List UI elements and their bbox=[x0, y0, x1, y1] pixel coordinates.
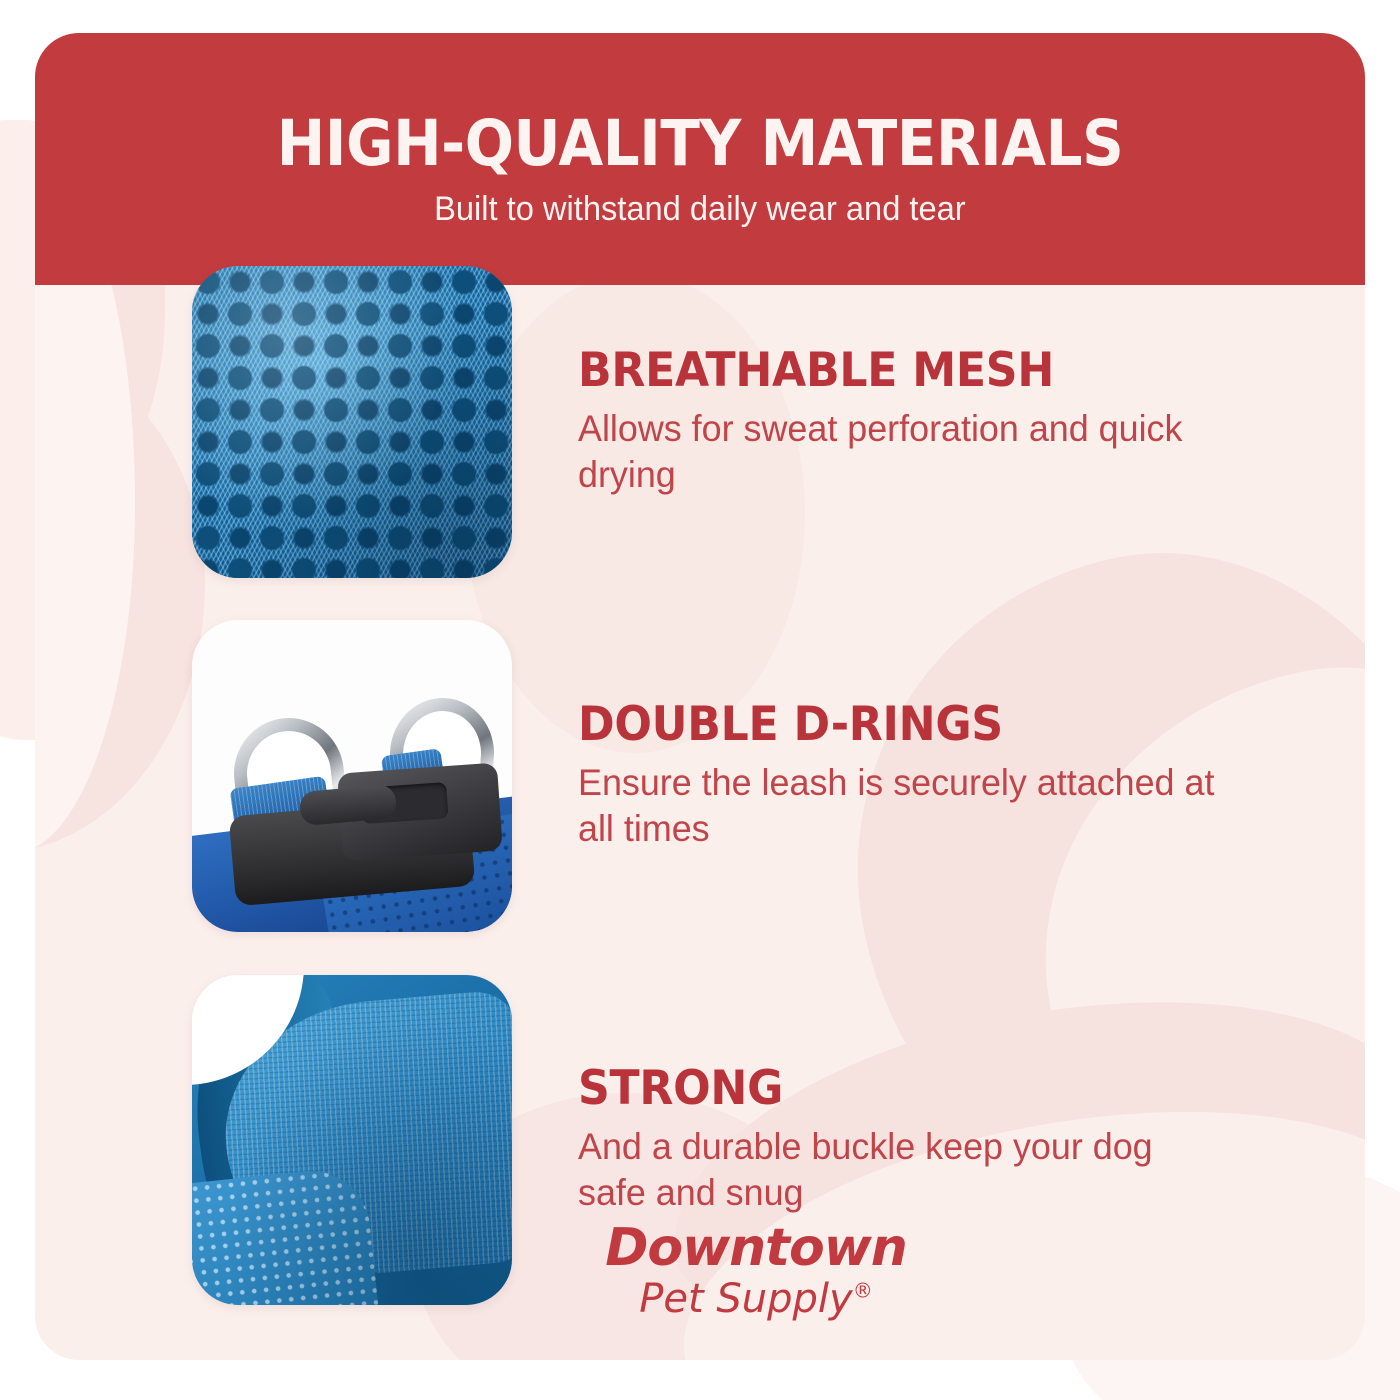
feature-row-double-d-rings: DOUBLE D-RINGS Ensure the leash is secur… bbox=[192, 620, 1238, 932]
page-subtitle: Built to withstand daily wear and tear bbox=[434, 191, 966, 228]
feature-image-breathable-mesh bbox=[192, 266, 512, 578]
brand-name-secondary: Pet Supply® bbox=[546, 1278, 966, 1320]
feature-image-double-d-rings bbox=[192, 620, 512, 932]
feature-title: STRONG bbox=[578, 1064, 1198, 1113]
header-banner: HIGH-QUALITY MATERIALS Built to withstan… bbox=[35, 33, 1365, 285]
mesh-sheen-overlay bbox=[192, 266, 512, 578]
feature-text-breathable-mesh: BREATHABLE MESH Allows for sweat perfora… bbox=[578, 346, 1238, 497]
padded-fabric-photo bbox=[192, 975, 512, 1305]
infographic-canvas: HIGH-QUALITY MATERIALS Built to withstan… bbox=[0, 0, 1400, 1400]
feature-row-breathable-mesh: BREATHABLE MESH Allows for sweat perfora… bbox=[192, 266, 1238, 578]
feature-description: And a durable buckle keep your dog safe … bbox=[578, 1124, 1218, 1216]
brand-name-primary: Downtown bbox=[546, 1222, 966, 1274]
feature-description: Ensure the leash is securely attached at… bbox=[578, 760, 1218, 852]
d-rings-photo bbox=[192, 620, 512, 932]
feature-description: Allows for sweat perforation and quick d… bbox=[578, 406, 1218, 498]
feature-text-double-d-rings: DOUBLE D-RINGS Ensure the leash is secur… bbox=[578, 700, 1238, 851]
feature-title: DOUBLE D-RINGS bbox=[578, 700, 1198, 749]
brand-logo: Downtown Pet Supply® bbox=[546, 1222, 966, 1320]
feature-image-strong bbox=[192, 975, 512, 1305]
fabric-shadow-overlay bbox=[192, 975, 512, 1305]
feature-title: BREATHABLE MESH bbox=[578, 346, 1198, 395]
page-title: HIGH-QUALITY MATERIALS bbox=[277, 112, 1124, 175]
registered-trademark-icon: ® bbox=[853, 1279, 873, 1303]
brand-name-secondary-text: Pet Supply bbox=[639, 1276, 852, 1322]
feature-text-strong: STRONG And a durable buckle keep your do… bbox=[578, 1064, 1238, 1215]
